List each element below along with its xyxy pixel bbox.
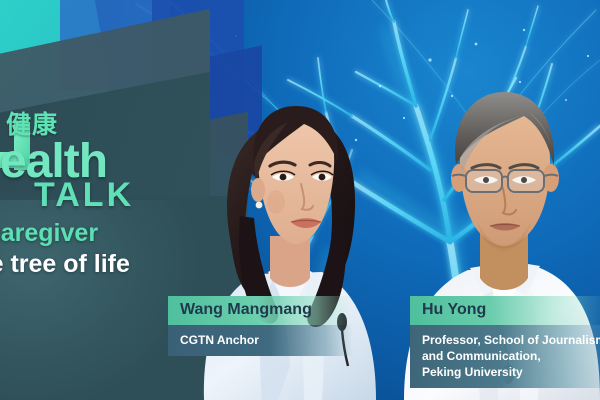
speaker-name: Wang Mangmang: [168, 296, 353, 325]
broadcast-title-card: 健康 ealth TALK e caregiver the tree of li…: [0, 0, 600, 400]
subtitle-line-2: the tree of life: [0, 249, 206, 280]
speaker-role-line: CGTN Anchor: [180, 332, 341, 348]
lower-third-hu-yong: Hu Yong Professor, School of Journalism …: [410, 296, 600, 388]
speaker-role: CGTN Anchor: [168, 325, 353, 356]
program-logo: 健康 ealth TALK: [0, 112, 189, 207]
speaker-role: Professor, School of Journalism and Comm…: [410, 325, 600, 389]
speaker-role-line: Peking University: [422, 364, 598, 380]
logo-chinese-title: 健康: [6, 112, 58, 137]
lower-third-wang-mangmang: Wang Mangmang CGTN Anchor: [168, 296, 353, 356]
speaker-role-line: and Communication,: [422, 348, 598, 364]
speaker-name: Hu Yong: [410, 296, 600, 325]
logo-talk-text: TALK: [34, 178, 134, 212]
speaker-role-line: Professor, School of Journalism: [422, 332, 598, 348]
episode-subtitle: e caregiver the tree of life: [0, 218, 206, 279]
subtitle-line-1: e caregiver: [0, 218, 206, 249]
